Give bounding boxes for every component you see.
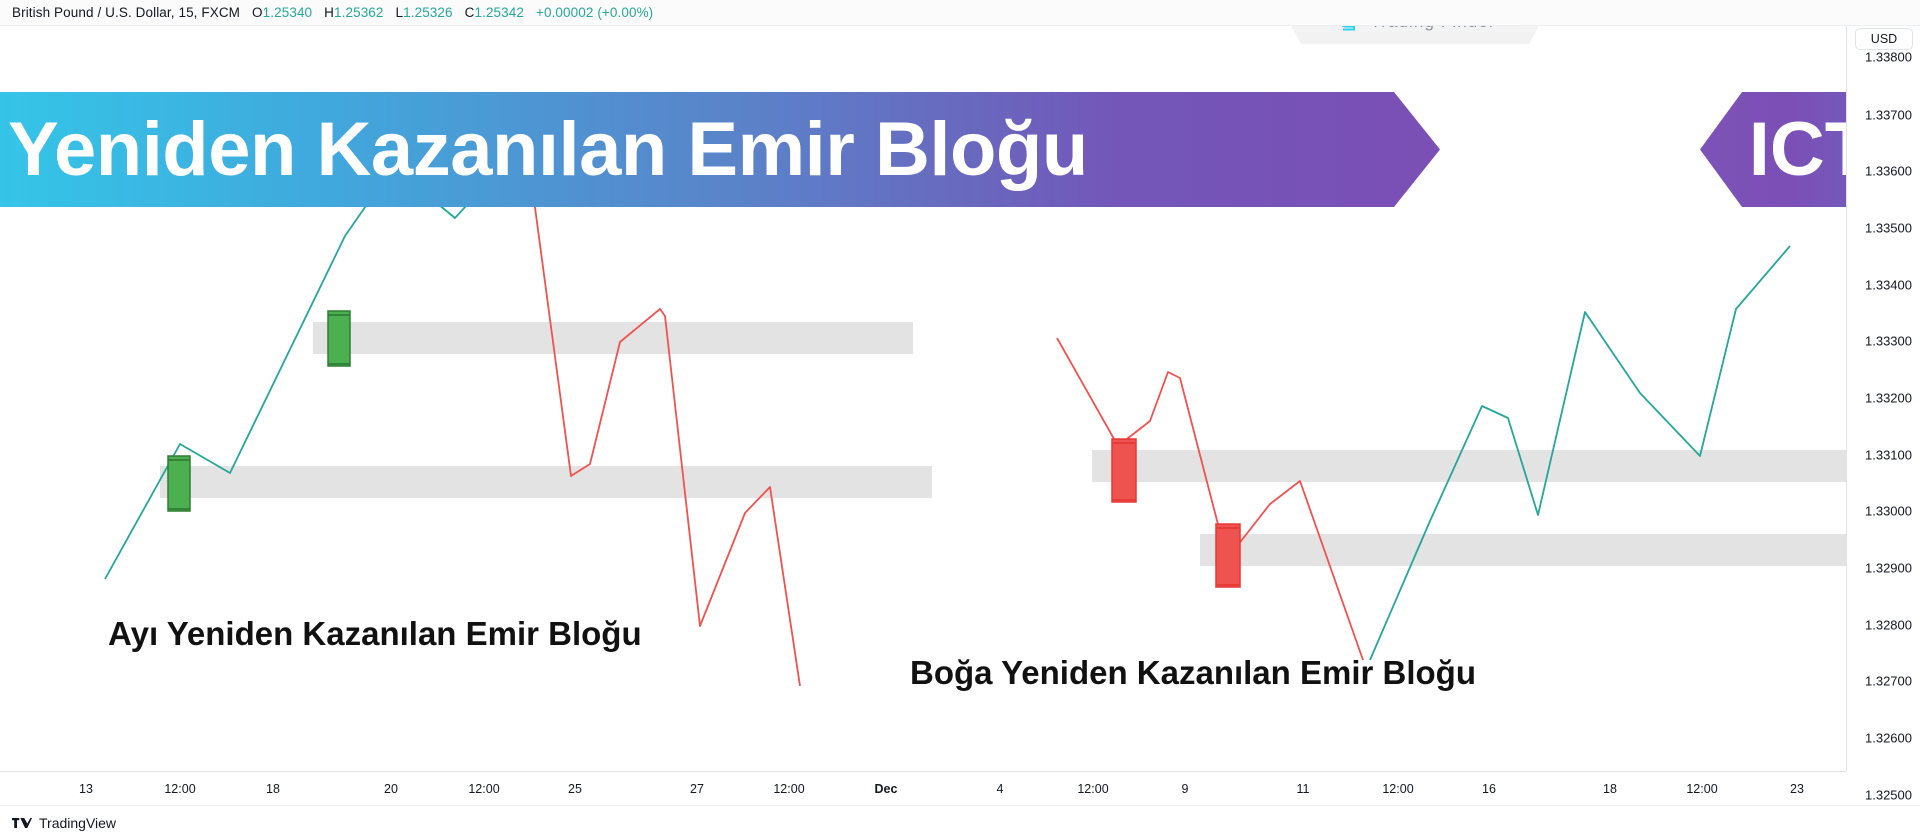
price-tick: 1.32700 xyxy=(1865,674,1912,689)
time-tick: 23 xyxy=(1790,782,1804,796)
ohlc-close: C1.25342 xyxy=(465,5,524,20)
tradingview-name: TradingView xyxy=(39,815,116,831)
candle-open-tick xyxy=(1112,442,1136,444)
price-tick: 1.33000 xyxy=(1865,504,1912,519)
bullish-ob-candle-high xyxy=(1112,439,1136,502)
ohlc-low-key: L xyxy=(396,5,404,20)
candle-close-tick xyxy=(1216,584,1240,586)
symbol-title[interactable]: British Pound / U.S. Dollar, 15, FXCM xyxy=(12,5,240,20)
tradingview-logo-icon xyxy=(12,816,32,830)
bearish-upper-zone xyxy=(313,322,913,354)
time-tick: 20 xyxy=(384,782,398,796)
time-tick: 12:00 xyxy=(1686,782,1717,796)
bearish-order-block-caption: Ayı Yeniden Kazanılan Emir Bloğu xyxy=(108,615,642,653)
bullish-order-block-caption: Boğa Yeniden Kazanılan Emir Bloğu xyxy=(910,654,1476,692)
candle-close-tick xyxy=(1112,499,1136,501)
chart-legend-bar: British Pound / U.S. Dollar, 15, FXCM O1… xyxy=(0,0,1920,26)
headline-banner: Yeniden Kazanılan Emir Bloğu xyxy=(0,92,1440,207)
bullish-lower-zone xyxy=(1200,534,1846,566)
candle-open-tick xyxy=(1216,527,1240,529)
change-value: +0.00002 (+0.00%) xyxy=(536,5,653,20)
time-tick: 12:00 xyxy=(1077,782,1108,796)
headline-title: Yeniden Kazanılan Emir Bloğu xyxy=(0,112,1088,188)
price-tick: 1.33800 xyxy=(1865,50,1912,65)
time-tick: 18 xyxy=(1603,782,1617,796)
price-tick: 1.33100 xyxy=(1865,448,1912,463)
time-tick: 12:00 xyxy=(773,782,804,796)
time-tick: 25 xyxy=(568,782,582,796)
time-tick: 9 xyxy=(1182,782,1189,796)
bullish-leg-down xyxy=(1057,338,1363,660)
time-axis[interactable]: 1312:00182012:00252712:00Dec412:0091112:… xyxy=(0,771,1846,805)
ohlc-low: L1.25326 xyxy=(396,5,453,20)
candle-body xyxy=(328,311,350,366)
price-tick: 1.32800 xyxy=(1865,618,1912,633)
price-tick: 1.33700 xyxy=(1865,108,1912,123)
tradingview-chart-screenshot: British Pound / U.S. Dollar, 15, FXCM O1… xyxy=(0,0,1920,840)
candle-close-tick xyxy=(328,363,350,365)
ohlc-close-value: 1.25342 xyxy=(474,5,524,20)
ohlc-open-key: O xyxy=(252,5,263,20)
price-tick: 1.33300 xyxy=(1865,334,1912,349)
bearish-ob-candle-high xyxy=(328,311,350,366)
time-tick: 12:00 xyxy=(1382,782,1413,796)
currency-chip[interactable]: USD xyxy=(1855,28,1913,50)
symbol-legend: British Pound / U.S. Dollar, 15, FXCM O1… xyxy=(0,5,653,20)
price-tick: 1.33500 xyxy=(1865,221,1912,236)
time-tick: 4 xyxy=(997,782,1004,796)
time-tick: 12:00 xyxy=(164,782,195,796)
candle-body xyxy=(168,456,190,511)
bearish-lower-zone xyxy=(160,466,932,498)
candle-body xyxy=(1112,439,1136,502)
ohlc-close-key: C xyxy=(465,5,475,20)
bullish-ob-candle-low xyxy=(1216,524,1240,587)
price-tick: 1.33600 xyxy=(1865,164,1912,179)
price-tick: 1.33400 xyxy=(1865,278,1912,293)
candle-open-tick xyxy=(168,459,190,461)
ohlc-high-value: 1.25362 xyxy=(334,5,384,20)
ohlc-low-value: 1.25326 xyxy=(403,5,453,20)
ohlc-high: H1.25362 xyxy=(324,5,383,20)
candle-open-tick xyxy=(328,314,350,316)
ohlc-open: O1.25340 xyxy=(252,5,312,20)
time-tick: 11 xyxy=(1297,782,1310,796)
ohlc-open-value: 1.25340 xyxy=(263,5,313,20)
time-tick: 13 xyxy=(79,782,93,796)
tradingview-watermark-bar: TradingView xyxy=(0,805,1920,840)
time-tick: Dec xyxy=(875,782,898,796)
time-tick: 18 xyxy=(266,782,280,796)
price-tick: 1.32500 xyxy=(1865,788,1912,803)
candle-close-tick xyxy=(168,508,190,510)
price-tick: 1.32900 xyxy=(1865,561,1912,576)
price-tick: 1.33200 xyxy=(1865,391,1912,406)
price-tick: 1.32600 xyxy=(1865,731,1912,746)
time-tick: 16 xyxy=(1482,782,1496,796)
price-axis[interactable]: USD 1.338001.337001.336001.335001.334001… xyxy=(1846,26,1920,771)
time-tick: 27 xyxy=(690,782,704,796)
time-tick: 12:00 xyxy=(468,782,499,796)
candle-body xyxy=(1216,524,1240,587)
ohlc-high-key: H xyxy=(324,5,334,20)
bearish-ob-candle-low xyxy=(168,456,190,511)
